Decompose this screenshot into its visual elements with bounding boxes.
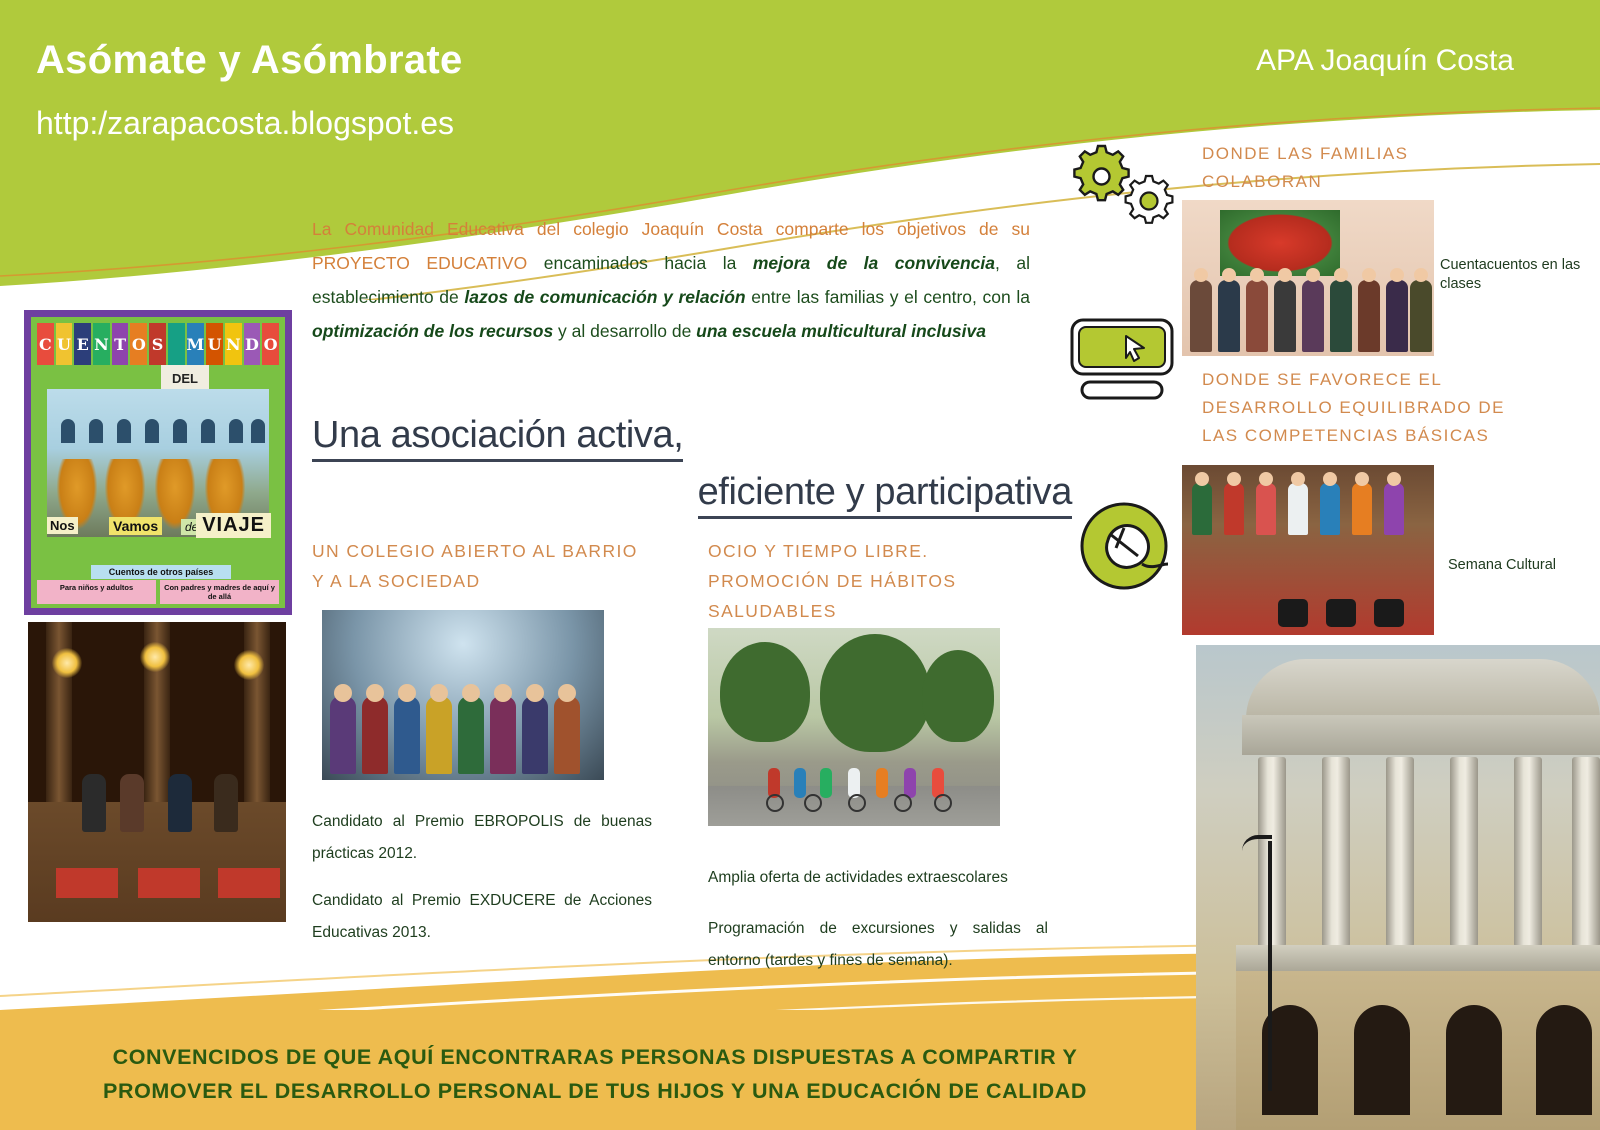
intro-segment-5: entre las familias y el centro, con la <box>746 287 1030 307</box>
image-edificio-joaquin-costa <box>1196 645 1600 1130</box>
cuentos-nos-label: Nos <box>47 517 78 534</box>
slogan-line-1: Una asociación activa, <box>312 414 683 462</box>
caption-semana-cultural: Semana Cultural <box>1448 556 1588 575</box>
note-premio-exducere: Candidato al Premio EXDUCERE de Acciones… <box>312 885 652 949</box>
gears-icon <box>1062 140 1180 236</box>
note-actividades-extraescolares: Amplia oferta de actividades extraescola… <box>708 862 1048 894</box>
organization-name: APA Joaquín Costa <box>1256 44 1514 78</box>
intro-paragraph: La Comunidad Educativa del colegio Joaqu… <box>312 212 1030 348</box>
cuentos-viaje-label: VIAJE <box>196 513 271 538</box>
caption-cuentacuentos: Cuentacuentos en las clases <box>1440 256 1590 294</box>
intro-segment-1: encaminados hacia la <box>544 253 753 273</box>
intro-segment-6: optimización de los recursos <box>312 321 553 341</box>
screen-cursor-icon <box>1068 316 1176 402</box>
right-heading-competencias-basicas: DONDE SE FAVORECE EL DESARROLLO EQUILIBR… <box>1202 366 1542 450</box>
note-programacion-excursiones: Programación de excursiones y salidas al… <box>708 913 1048 977</box>
intro-segment-8: una escuela multicultural inclusiva <box>696 321 986 341</box>
image-cuentos-del-mundo: C U E N T O S M U N D O DEL Nos Vamos de… <box>24 310 292 615</box>
page-title: Asómate y Asómbrate <box>36 38 463 83</box>
section-heading-colegio-abierto: UN COLEGIO ABIERTO AL BARRIO Y A LA SOCI… <box>312 536 642 596</box>
note-premio-ebropolis: Candidato al Premio EBROPOLIS de buenas … <box>312 806 652 870</box>
image-school-hall-market <box>28 622 286 922</box>
bottom-banner-line-1: CONVENCIDOS DE QUE AQUÍ ENCONTRARAS PERS… <box>0 1040 1190 1074</box>
section-heading-ocio-tiempo-libre: OCIO Y TIEMPO LIBRE. PROMOCIÓN DE HÁBITO… <box>708 536 1038 626</box>
intro-segment-7: y al desarrollo de <box>553 321 696 341</box>
bottom-banner-text: CONVENCIDOS DE QUE AQUÍ ENCONTRARAS PERS… <box>0 1040 1190 1108</box>
cuentos-foot-left: Para niños y adultos <box>37 580 156 604</box>
slogan-line-2: eficiente y participativa <box>698 471 1072 519</box>
intro-segment-2: mejora de la convivencia <box>753 253 995 273</box>
cuentos-footer-labels: Para niños y adultos Con padres y madres… <box>37 580 279 604</box>
cuentos-foot-right: Con padres y madres de aquí y de allá <box>160 580 279 604</box>
bottom-banner-line-2: PROMOVER EL DESARROLLO PERSONAL DE TUS H… <box>0 1074 1190 1108</box>
image-semana-cultural <box>1182 465 1434 635</box>
cuentos-title-letters: C U E N T O S M U N D O <box>37 323 279 365</box>
image-cycling-activity <box>708 628 1000 826</box>
image-familias-colaboran <box>1182 200 1434 356</box>
blog-url[interactable]: http:/zarapacosta.blogspot.es <box>36 105 454 142</box>
right-heading-familias-colaboran: DONDE LAS FAMILIAS COLABORAN <box>1202 140 1532 196</box>
poster-canvas: C U E N T O S M U N D O DEL Nos Vamos de… <box>0 0 1600 1130</box>
main-slogan: Una asociación activa, eficiente y parti… <box>312 414 1072 519</box>
cuentos-del-label: DEL <box>161 365 209 391</box>
cuentos-subtitle: Cuentos de otros países <box>91 565 231 579</box>
image-gigantes-cabezudos <box>322 610 604 780</box>
intro-segment-4: lazos de comunicación y relación <box>464 287 745 307</box>
cuentos-vamos-label: Vamos <box>109 517 162 535</box>
mouse-icon <box>1072 494 1176 598</box>
